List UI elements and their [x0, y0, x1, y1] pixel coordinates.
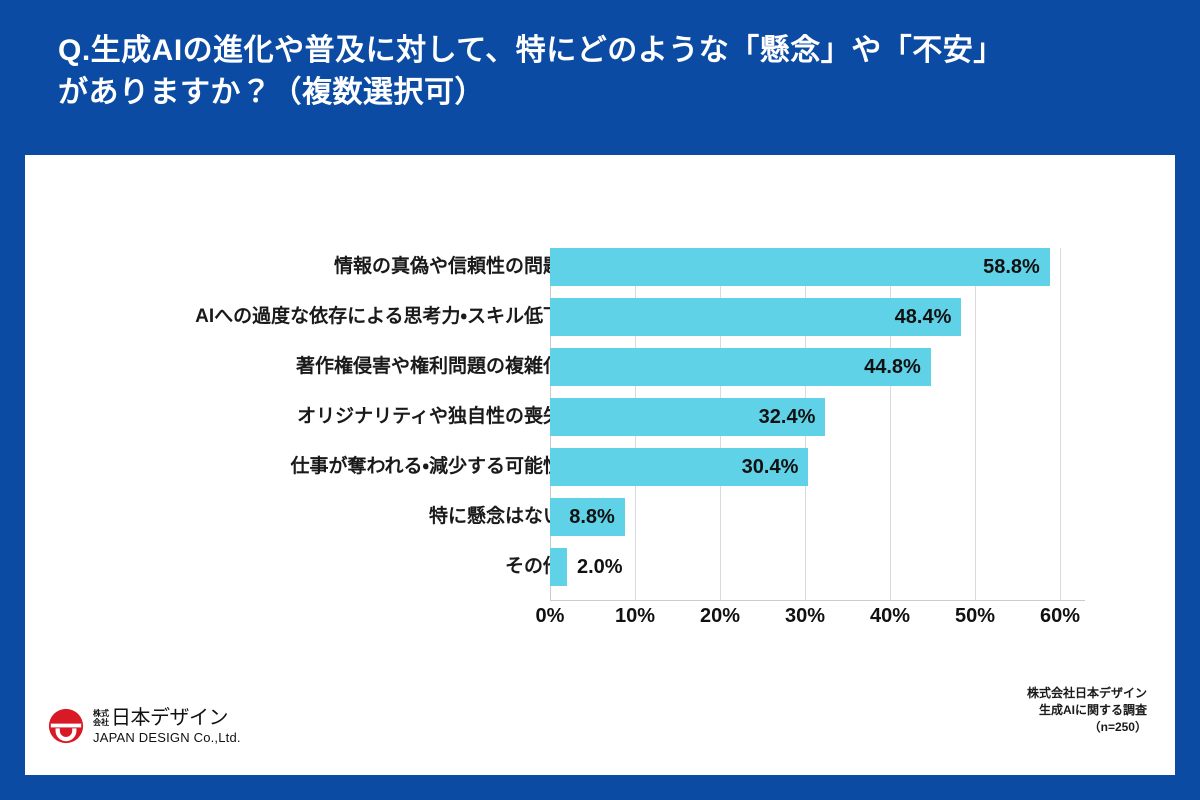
category-label: 特に懸念はない	[429, 498, 562, 536]
bar-row: AIへの過度な依存による思考力・スキル低下 48.4%	[25, 298, 1175, 336]
bar-value-label: 30.4%	[742, 448, 799, 486]
x-tick-40: 40%	[870, 605, 910, 628]
slide-root: Q.生成AIの進化や普及に対して、特にどのような「懸念」や「不安」 がありますか…	[0, 0, 1200, 800]
logo-prefix-line-2: 会社	[93, 718, 109, 727]
bar-row: 特に懸念はない 8.8%	[25, 498, 1175, 536]
logo-corp-prefix: 株式 会社	[93, 709, 109, 729]
bar-row: その他 2.0%	[25, 548, 1175, 586]
bar-container: 32.4%	[550, 398, 825, 436]
logo-text-block: 株式 会社 日本デザイン JAPAN DESIGN Co.,Ltd.	[93, 707, 241, 745]
title-line-2: がありますか？（複数選択可）	[58, 72, 1148, 114]
bar-value-label: 44.8%	[864, 348, 921, 386]
category-label: オリジナリティや独自性の喪失	[297, 398, 562, 436]
company-logo: 株式 会社 日本デザイン JAPAN DESIGN Co.,Ltd.	[47, 707, 241, 745]
bar-row: 著作権侵害や権利問題の複雑化 44.8%	[25, 348, 1175, 386]
bar-row: オリジナリティや独自性の喪失 32.4%	[25, 398, 1175, 436]
category-label: 仕事が奪われる・減少する可能性	[290, 448, 562, 486]
bar-row: 情報の真偽や信頼性の問題 58.8%	[25, 248, 1175, 286]
japan-design-mark-icon	[47, 707, 85, 745]
x-tick-30: 30%	[785, 605, 825, 628]
category-label: 情報の真偽や信頼性の問題	[334, 248, 562, 286]
bar-container: 44.8%	[550, 348, 931, 386]
bar-fill	[550, 248, 1050, 286]
logo-japanese-name: 株式 会社 日本デザイン	[93, 707, 241, 729]
x-tick-20: 20%	[700, 605, 740, 628]
x-axis-ticks: 0% 10% 20% 30% 40% 50% 60%	[25, 605, 1175, 635]
bar-container: 30.4%	[550, 448, 808, 486]
bar-value-label: 8.8%	[569, 498, 615, 536]
x-tick-0: 0%	[536, 605, 565, 628]
category-label: 著作権侵害や権利問題の複雑化	[296, 348, 562, 386]
bar-value-label: 58.8%	[983, 248, 1040, 286]
bar-container: 58.8%	[550, 248, 1050, 286]
title-line-1: Q.生成AIの進化や普及に対して、特にどのような「懸念」や「不安」	[58, 30, 1148, 72]
bar-rows: 情報の真偽や信頼性の問題 58.8% AIへの過度な依存による思考力・スキル低下…	[25, 155, 1175, 507]
logo-prefix-line-1: 株式	[93, 709, 109, 718]
credit-survey: 生成AIに関する調査	[1027, 702, 1147, 719]
bar-value-label: 48.4%	[895, 298, 952, 336]
credit-company: 株式会社日本デザイン	[1027, 685, 1147, 702]
content-card: 情報の真偽や信頼性の問題 58.8% AIへの過度な依存による思考力・スキル低下…	[25, 155, 1175, 775]
credit-sample-size: （n=250）	[1027, 719, 1147, 736]
logo-name-jp: 日本デザイン	[111, 707, 228, 729]
x-tick-60: 60%	[1040, 605, 1080, 628]
bar-fill	[550, 548, 567, 586]
bar-chart: 情報の真偽や信頼性の問題 58.8% AIへの過度な依存による思考力・スキル低下…	[25, 155, 1175, 655]
page-title: Q.生成AIの進化や普及に対して、特にどのような「懸念」や「不安」 がありますか…	[58, 30, 1148, 114]
bar-row: 仕事が奪われる・減少する可能性 30.4%	[25, 448, 1175, 486]
category-label: AIへの過度な依存による思考力・スキル低下	[195, 298, 562, 336]
bar-value-label: 2.0%	[577, 548, 623, 586]
x-axis-line	[550, 600, 1085, 601]
bar-container: 8.8%	[550, 498, 625, 536]
x-tick-50: 50%	[955, 605, 995, 628]
bar-container: 2.0%	[550, 548, 567, 586]
bar-container: 48.4%	[550, 298, 961, 336]
x-tick-10: 10%	[615, 605, 655, 628]
bar-value-label: 32.4%	[759, 398, 816, 436]
source-credit: 株式会社日本デザイン 生成AIに関する調査 （n=250）	[1027, 685, 1147, 736]
logo-name-en: JAPAN DESIGN Co.,Ltd.	[93, 730, 241, 745]
